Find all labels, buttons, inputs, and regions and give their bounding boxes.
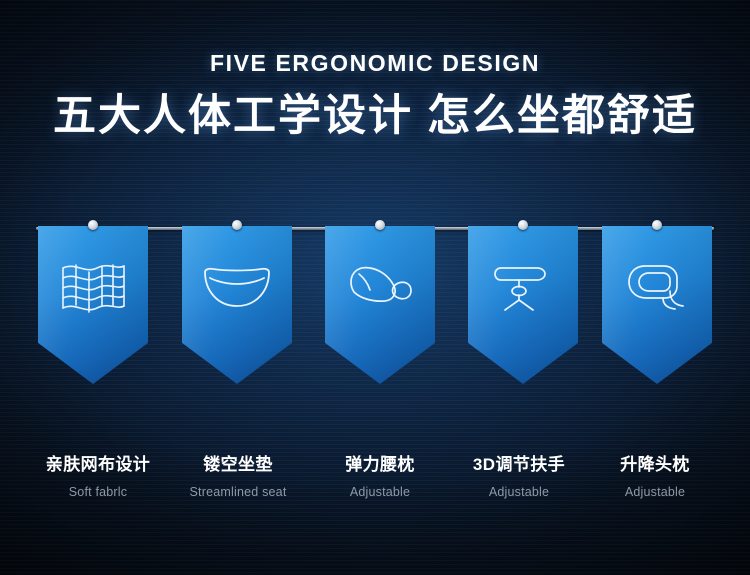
feature-caption-cn: 亲肤网布设计	[23, 455, 173, 475]
feature-caption-cn: 升降头枕	[580, 455, 730, 475]
banner-knob-icon	[88, 220, 98, 230]
feature-caption-en: Adjustable	[444, 485, 594, 500]
feature-caption-4: 3D调节扶手 Adjustable	[444, 455, 594, 500]
feature-caption-en: Soft fabrlc	[23, 485, 173, 500]
banner-group	[0, 222, 750, 412]
poster-canvas: FIVE ERGONOMIC DESIGN 五大人体工学设计 怎么坐都舒适	[0, 0, 750, 575]
feature-caption-3: 弹力腰枕 Adjustable	[305, 455, 455, 500]
lumbar-pillow-icon	[342, 256, 418, 318]
feature-caption-en: Adjustable	[580, 485, 730, 500]
banner-item-5	[602, 222, 712, 387]
feature-caption-2: 镂空坐垫 Streamlined seat	[163, 455, 313, 500]
feature-caption-cn: 3D调节扶手	[444, 455, 594, 475]
armrest-icon	[485, 256, 561, 318]
feature-caption-en: Streamlined seat	[163, 485, 313, 500]
seat-cushion-icon	[199, 256, 275, 318]
banner-item-2	[182, 222, 292, 387]
feature-caption-cn: 镂空坐垫	[163, 455, 313, 475]
headrest-icon	[619, 256, 695, 318]
feature-caption-cn: 弹力腰枕	[305, 455, 455, 475]
feature-caption-5: 升降头枕 Adjustable	[580, 455, 730, 500]
banner-item-3	[325, 222, 435, 387]
banner-item-1	[38, 222, 148, 387]
mesh-fabric-icon	[55, 256, 131, 318]
heading-block: FIVE ERGONOMIC DESIGN 五大人体工学设计 怎么坐都舒适	[0, 52, 750, 142]
feature-caption-en: Adjustable	[305, 485, 455, 500]
banner-knob-icon	[652, 220, 662, 230]
banner-knob-icon	[232, 220, 242, 230]
feature-caption-1: 亲肤网布设计 Soft fabrlc	[23, 455, 173, 500]
chinese-title: 五大人体工学设计 怎么坐都舒适	[0, 91, 750, 142]
banner-knob-icon	[518, 220, 528, 230]
banner-knob-icon	[375, 220, 385, 230]
english-title: FIVE ERGONOMIC DESIGN	[0, 52, 750, 75]
caption-group: 亲肤网布设计 Soft fabrlc 镂空坐垫 Streamlined seat…	[0, 455, 750, 525]
banner-item-4	[468, 222, 578, 387]
